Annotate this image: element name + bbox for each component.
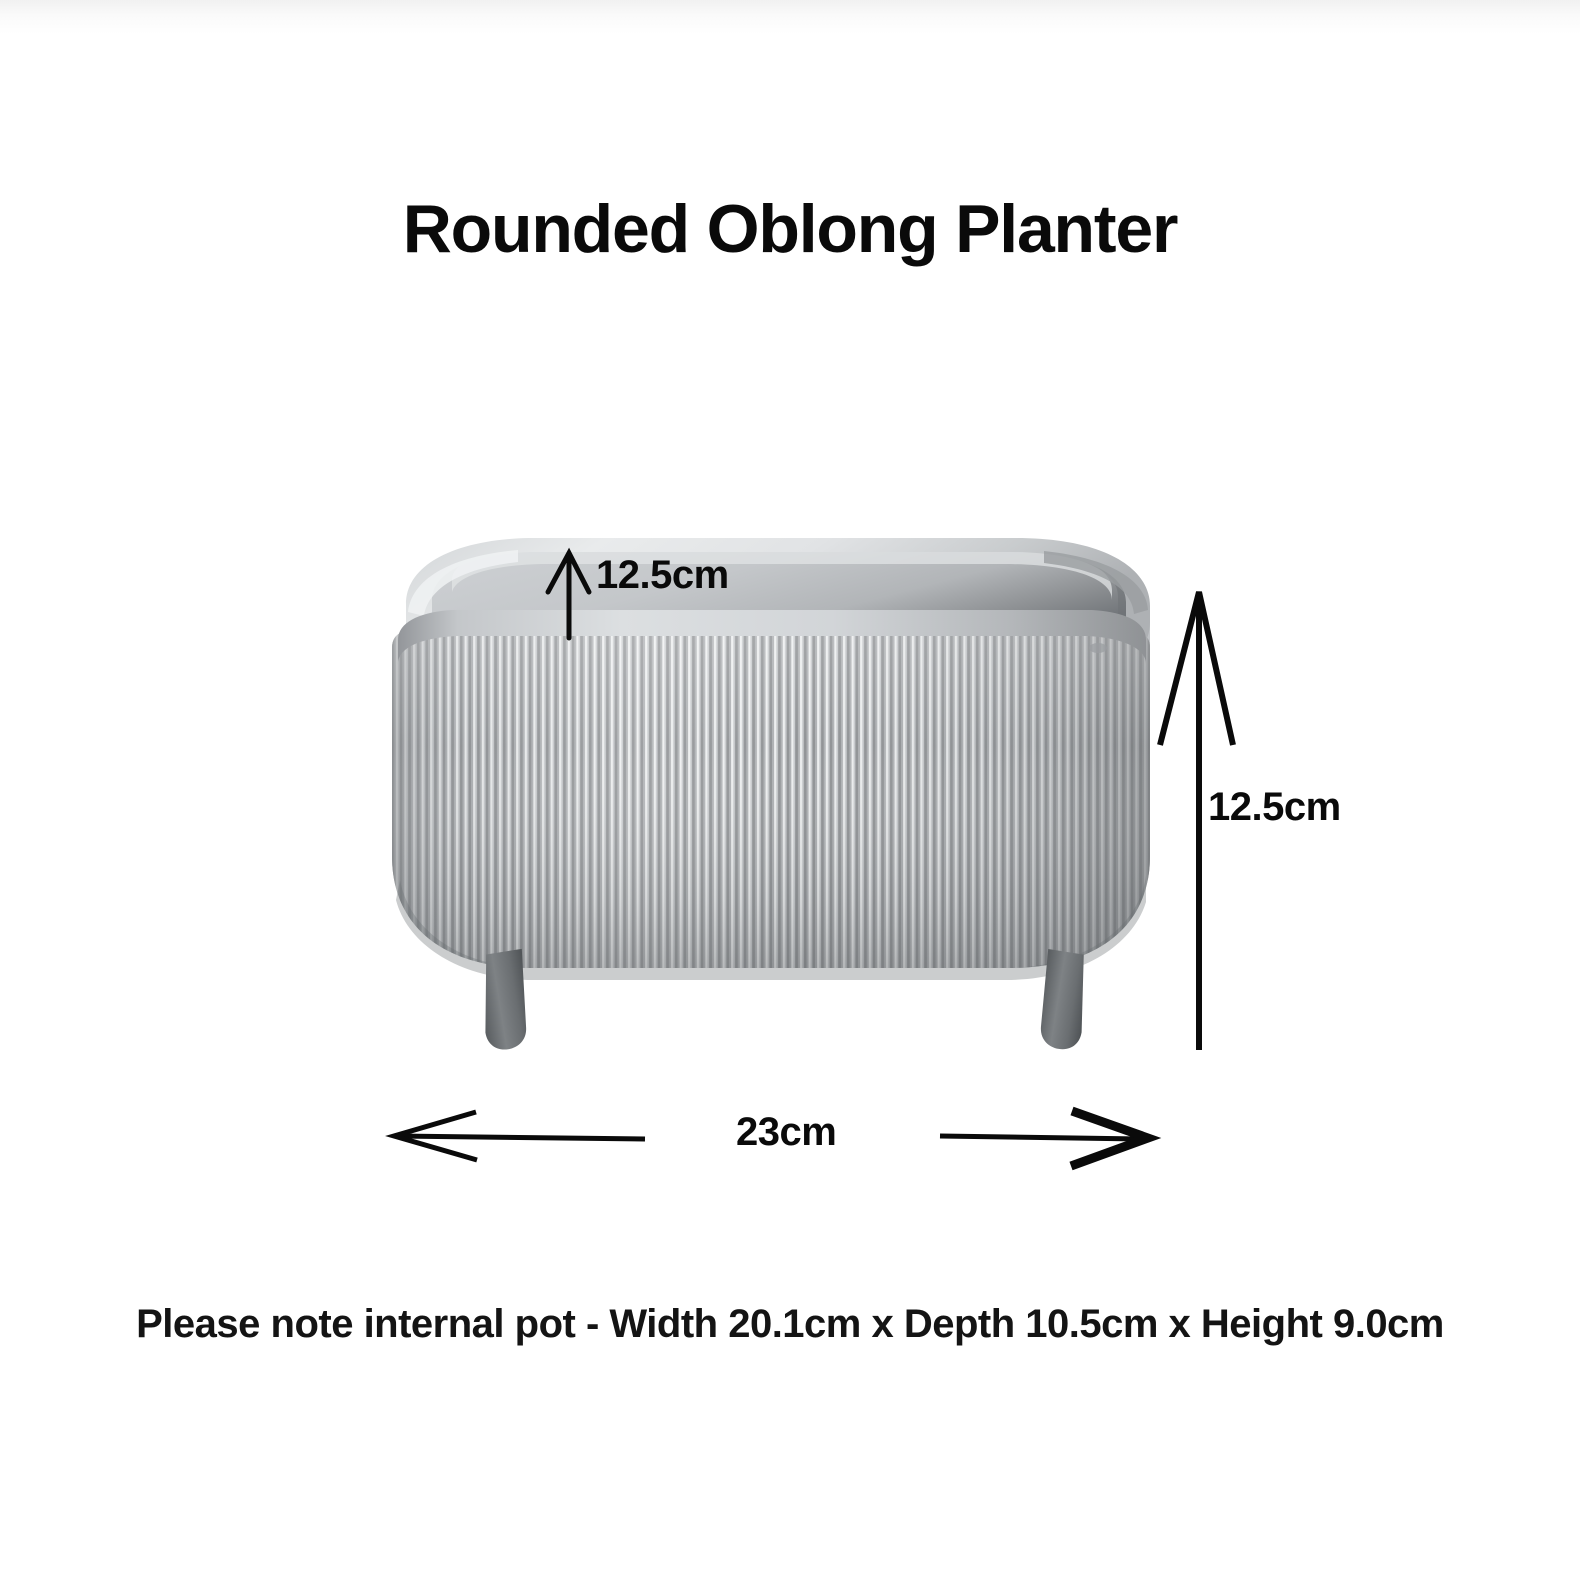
internal-pot-note: Please note internal pot - Width 20.1cm …	[0, 1302, 1580, 1347]
product-dimension-diagram: Rounded Oblong Planter	[0, 0, 1580, 1581]
height-dimension-label: 12.5cm	[1208, 785, 1341, 830]
depth-dimension-label: 12.5cm	[596, 553, 729, 598]
planter-body	[380, 610, 1160, 980]
width-dimension-arrow-left	[394, 1112, 645, 1160]
width-dimension-label: 23cm	[736, 1110, 836, 1155]
width-dimension-arrow-right	[940, 1111, 1148, 1166]
